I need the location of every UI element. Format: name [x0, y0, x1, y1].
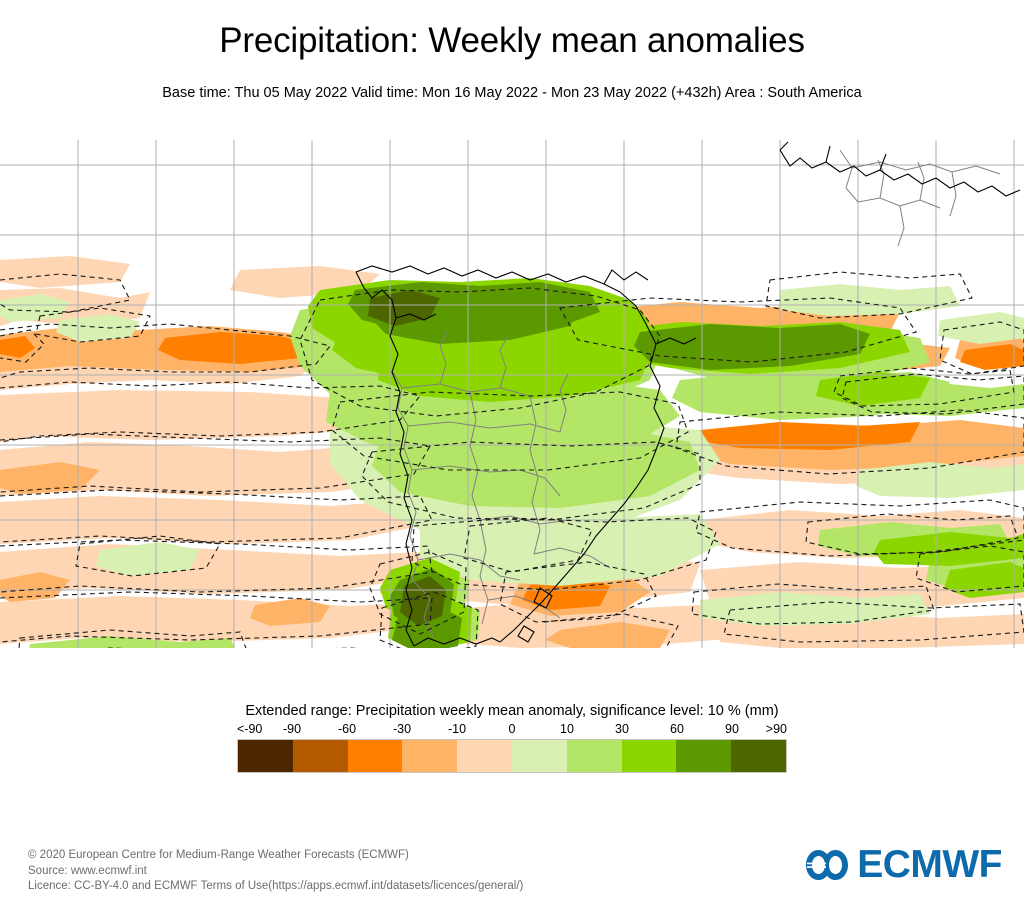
- colorbar-band-6: [567, 740, 622, 772]
- colorbar-tick: 10: [560, 722, 574, 737]
- colorbar-tick: >90: [766, 722, 787, 737]
- colorbar-tick: -10: [448, 722, 466, 737]
- colorbar-tick: 0: [509, 722, 516, 737]
- colorbar-band-0: [238, 740, 293, 772]
- colorbar-tick: -90: [283, 722, 301, 737]
- colorbar-band-2: [348, 740, 403, 772]
- page-title: Precipitation: Weekly mean anomalies: [0, 20, 1024, 62]
- footer-line-0: © 2020 European Centre for Medium-Range …: [28, 848, 523, 864]
- legend-caption: Extended range: Precipitation weekly mea…: [0, 702, 1024, 720]
- map-subtitle: Base time: Thu 05 May 2022 Valid time: M…: [0, 84, 1024, 102]
- footer-line-2: Licence: CC-BY-4.0 and ECMWF Terms of Us…: [28, 879, 523, 895]
- ecmwf-wordmark: ECMWF: [857, 845, 1002, 885]
- colorbar-band-3: [402, 740, 457, 772]
- colorbar-tick: 90: [725, 722, 739, 737]
- colorbar-band-1: [293, 740, 348, 772]
- colorbar-tick: 60: [670, 722, 684, 737]
- colorbar-tick: 30: [615, 722, 629, 737]
- colorbar-band-4: [457, 740, 512, 772]
- colorbar-band-9: [731, 740, 786, 772]
- colorbar: [237, 739, 787, 773]
- map-canvas: [0, 140, 1024, 648]
- anomaly-map: [0, 140, 1024, 648]
- footer-credits: © 2020 European Centre for Medium-Range …: [28, 848, 523, 895]
- colorbar-tick: -60: [338, 722, 356, 737]
- colorbar-wrapper: <-90-90-60-30-10010306090>90: [237, 722, 787, 773]
- colorbar-tick: -30: [393, 722, 411, 737]
- footer-line-1: Source: www.ecmwf.int: [28, 864, 523, 880]
- colorbar-band-8: [676, 740, 731, 772]
- ecmwf-logo: ECMWF: [804, 845, 1002, 885]
- colorbar-tick-labels: <-90-90-60-30-10010306090>90: [237, 722, 787, 739]
- ecmwf-globe-icon: [804, 848, 850, 882]
- colorbar-band-7: [622, 740, 677, 772]
- colorbar-tick: <-90: [237, 722, 262, 737]
- colorbar-band-5: [512, 740, 567, 772]
